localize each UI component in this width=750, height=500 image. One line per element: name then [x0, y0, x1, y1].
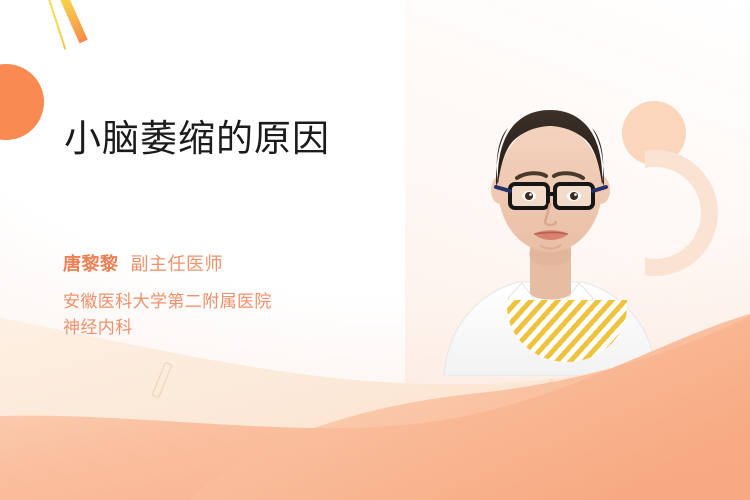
- doctor-byline: 唐黎黎副主任医师: [63, 250, 223, 276]
- department-name: 神经内科: [63, 315, 272, 341]
- page-title: 小脑萎缩的原因: [64, 118, 330, 161]
- doctor-name: 唐黎黎: [63, 254, 119, 274]
- doctor-rank: 副主任医师: [131, 254, 224, 274]
- hospital-name: 安徽医科大学第二附属医院: [63, 289, 272, 315]
- video-cover-card: 小脑萎缩的原因 唐黎黎副主任医师 安徽医科大学第二附属医院 神经内科: [0, 0, 750, 500]
- doctor-affiliation: 安徽医科大学第二附属医院 神经内科: [63, 289, 272, 342]
